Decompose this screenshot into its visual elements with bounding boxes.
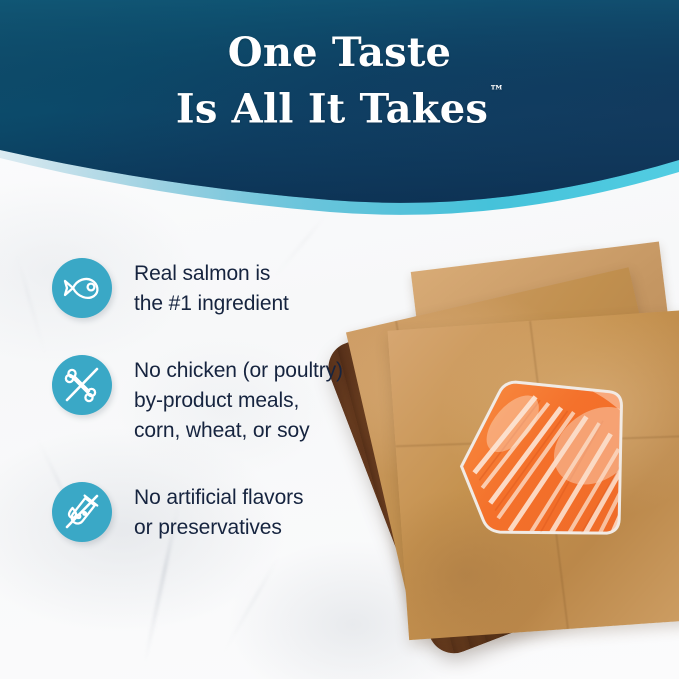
- benefit-text-salmon: Real salmon is the #1 ingredient: [134, 258, 289, 319]
- no-bone-icon: [52, 355, 112, 415]
- trademark-symbol: ™: [489, 82, 504, 100]
- benefit-item-salmon: Real salmon is the #1 ingredient: [52, 258, 412, 319]
- fish-icon: [52, 258, 112, 318]
- title-line-1: One Taste: [0, 28, 679, 78]
- benefit-list: Real salmon is the #1 ingredient: [52, 258, 412, 543]
- benefit-text-no-byproduct: No chicken (or poultry) by-product meals…: [134, 355, 343, 446]
- benefit-item-no-byproduct: No chicken (or poultry) by-product meals…: [52, 355, 412, 446]
- no-test-tube-icon: [52, 482, 112, 542]
- benefit-text-no-additives: No artificial flavors or preservatives: [134, 482, 303, 543]
- marble-vein: [15, 252, 47, 358]
- title-line-2-wrapper: Is All It Takes™: [176, 78, 503, 134]
- page-title: One Taste Is All It Takes™: [0, 28, 679, 134]
- salmon-fillet: [436, 349, 656, 581]
- benefit-item-no-additives: No artificial flavors or preservatives: [52, 482, 412, 543]
- marble-vein: [220, 553, 282, 658]
- title-line-2: Is All It Takes: [176, 85, 488, 132]
- promo-poster: One Taste Is All It Takes™ Real salmon i…: [0, 0, 679, 679]
